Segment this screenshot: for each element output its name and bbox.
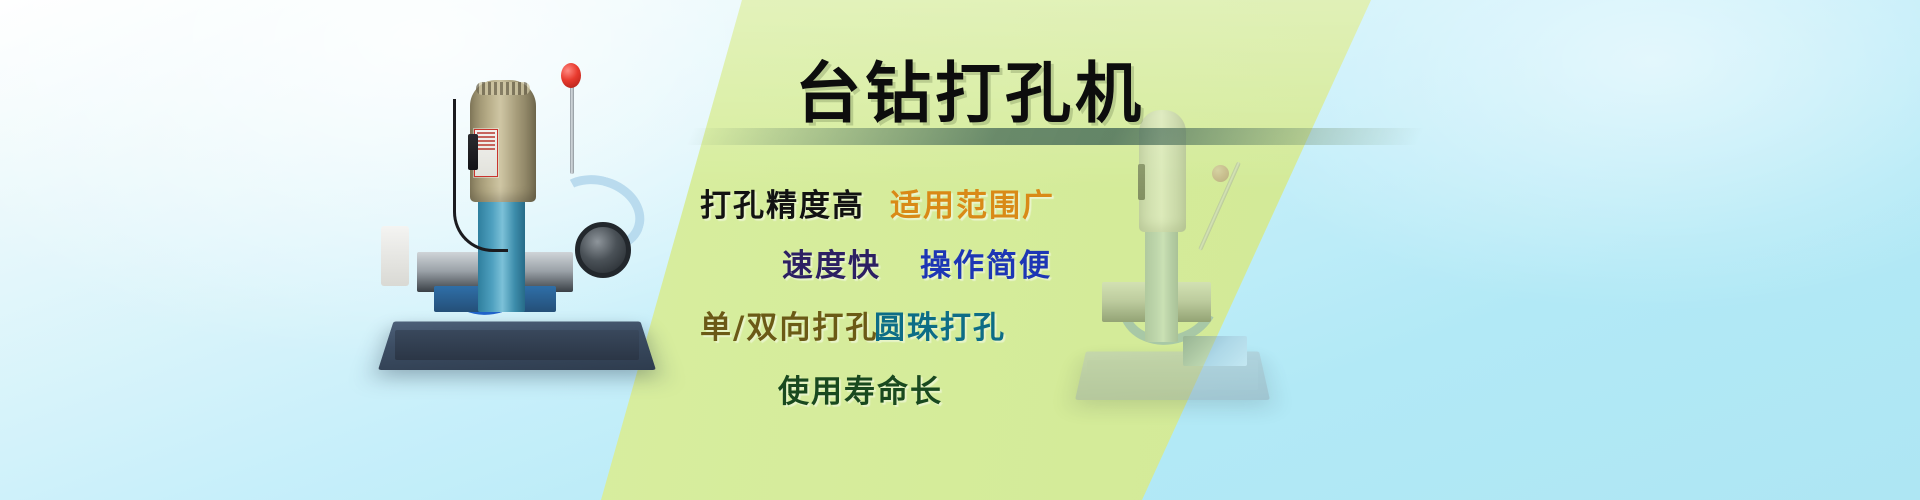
machine-base-plate [395,330,640,360]
feature-ball-drilling: 圆珠打孔 [874,302,1006,347]
feature-single-double-drilling: 单/双向打孔 [700,302,878,347]
bench-drill-machine-photo [378,8,656,370]
feature-wide-application: 适用范围广 [890,180,1055,225]
capacitor-box [468,134,478,171]
feature-drilling-accuracy: 打孔精度高 [700,180,865,225]
side-box [381,226,409,286]
lever-knob [561,63,581,88]
product-banner: 台钻打孔机 打孔精度高 适用范围广 速度快 操作简便 单/双向打孔 圆珠打孔 使… [0,0,1920,500]
machine-motor [470,80,537,202]
lever-knob [1212,165,1229,182]
machine-column [1145,222,1178,342]
banner-title: 台钻打孔机 [760,40,1180,136]
feature-easy-operation: 操作简便 [920,240,1052,285]
hand-crank-wheel [575,222,631,278]
motor-vent-cap [476,82,529,95]
bench-drill-machine-photo-faded [1075,132,1270,400]
feed-lever [570,78,574,174]
product-package-box [1183,336,1247,366]
capacitor-box [1138,164,1145,201]
feature-long-service-life: 使用寿命长 [778,366,943,411]
feature-fast-speed: 速度快 [782,240,881,285]
